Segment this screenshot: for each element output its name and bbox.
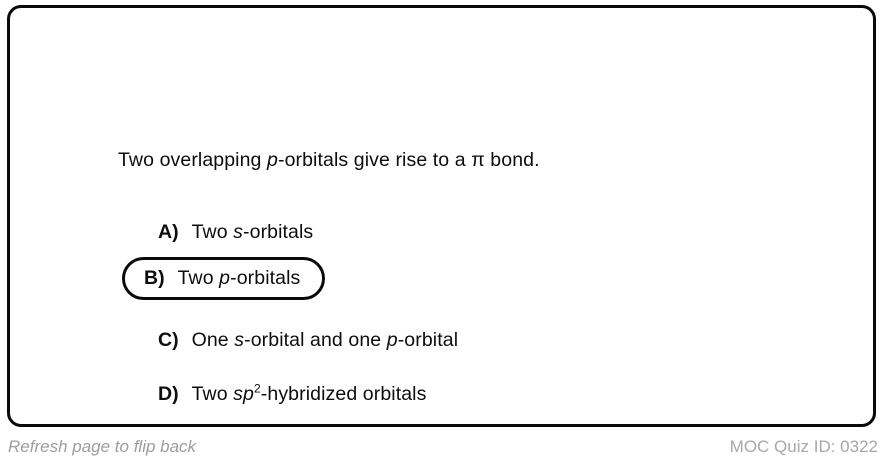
- question-suffix: -orbitals give rise to a π bond.: [278, 149, 540, 171]
- answer-option-b[interactable]: B) Two p-orbitals: [122, 257, 325, 300]
- option-b-post: -orbitals: [230, 267, 300, 289]
- refresh-hint-text: Refresh page to flip back: [8, 437, 196, 457]
- flashcard-body: Two overlapping p-orbitals give rise to …: [10, 8, 873, 424]
- page-footer: Refresh page to flip back MOC Quiz ID: 0…: [0, 437, 890, 465]
- flashcard: Two overlapping p-orbitals give rise to …: [7, 5, 876, 427]
- option-d-post: -hybridized orbitals: [261, 383, 427, 405]
- question-text: Two overlapping p-orbitals give rise to …: [118, 147, 540, 173]
- quiz-flashcard-page: Two overlapping p-orbitals give rise to …: [0, 0, 890, 468]
- option-c-post-2: -orbital: [398, 329, 458, 351]
- question-prefix: Two overlapping: [118, 149, 267, 171]
- option-a-text: Two s-orbitals: [192, 221, 314, 244]
- quiz-id-label: MOC Quiz ID: 0322: [730, 437, 878, 457]
- option-b-italic: p: [219, 267, 230, 289]
- question-italic-orbital: p: [267, 149, 278, 171]
- option-d-pre: Two: [192, 383, 234, 405]
- option-c-letter: C): [158, 329, 179, 352]
- option-c-italic-2: p: [387, 329, 398, 351]
- option-d-letter: D): [158, 383, 179, 406]
- answer-option-d[interactable]: D) Two sp2-hybridized orbitals: [138, 373, 446, 416]
- option-c-text: One s-orbital and one p-orbital: [192, 329, 459, 352]
- option-b-text: Two p-orbitals: [178, 267, 301, 290]
- option-a-italic: s: [233, 221, 243, 243]
- option-c-post: -orbital and one: [244, 329, 387, 351]
- option-d-superscript: 2: [254, 382, 261, 396]
- option-d-text: Two sp2-hybridized orbitals: [192, 383, 427, 406]
- option-a-pre: Two: [192, 221, 234, 243]
- answer-option-c[interactable]: C) One s-orbital and one p-orbital: [138, 319, 478, 362]
- option-c-pre: One: [192, 329, 235, 351]
- answer-option-a[interactable]: A) Two s-orbitals: [138, 211, 333, 254]
- option-b-letter: B): [144, 267, 165, 290]
- option-d-italic: sp: [233, 383, 254, 405]
- option-b-pre: Two: [178, 267, 220, 289]
- option-a-letter: A): [158, 221, 179, 244]
- option-c-italic: s: [234, 329, 244, 351]
- option-a-post: -orbitals: [243, 221, 313, 243]
